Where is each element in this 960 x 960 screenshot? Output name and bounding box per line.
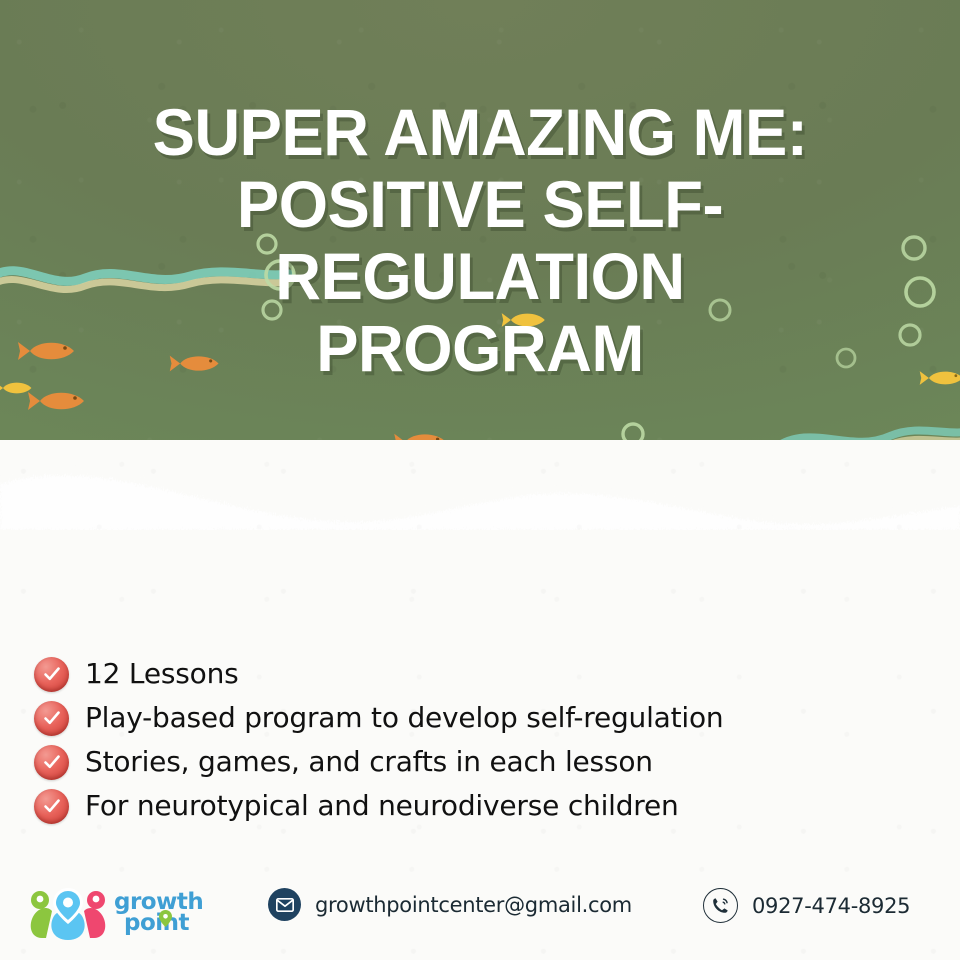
poster-headline: SUPER AMAZING ME: POSITIVE SELF- REGULAT… [58,96,903,384]
fish-yellow-icon [918,368,960,388]
check-circle-icon [34,657,69,692]
fish-orange-icon [26,388,88,414]
contact-email-value: growthpointcenter@gmail.com [315,893,632,917]
phone-icon [703,888,738,923]
list-item-label: For neurotypical and neurodiverse childr… [85,789,679,823]
fish-yellow-icon [0,378,34,398]
contact-phone-value: 0927-474-8925 [752,894,910,918]
list-item: Play-based program to develop self-regul… [34,696,924,740]
list-item: 12 Lessons [34,652,924,696]
list-item-label: Play-based program to develop self-regul… [85,701,723,735]
envelope-icon [268,888,301,921]
torn-paper-edge [0,440,960,530]
contact-phone[interactable]: 0927-474-8925 [703,888,910,923]
brand-logo[interactable]: growth point [26,882,201,944]
check-circle-icon [34,789,69,824]
poster-canvas: SUPER AMAZING ME: POSITIVE SELF- REGULAT… [0,0,960,960]
list-item: For neurotypical and neurodiverse childr… [34,784,924,828]
logo-pin-dot-icon [159,910,172,927]
footer-bar: growth point growthpointcenter@gmail.com [0,870,960,960]
list-item: Stories, games, and crafts in each lesso… [34,740,924,784]
list-item-label: 12 Lessons [85,657,239,691]
check-circle-icon [34,745,69,780]
feature-list: 12 Lessons Play-based program to develop… [34,652,924,828]
contact-email[interactable]: growthpointcenter@gmail.com [268,888,632,921]
check-circle-icon [34,701,69,736]
growth-point-people-logo-icon [26,884,110,940]
list-item-label: Stories, games, and crafts in each lesso… [85,745,653,779]
